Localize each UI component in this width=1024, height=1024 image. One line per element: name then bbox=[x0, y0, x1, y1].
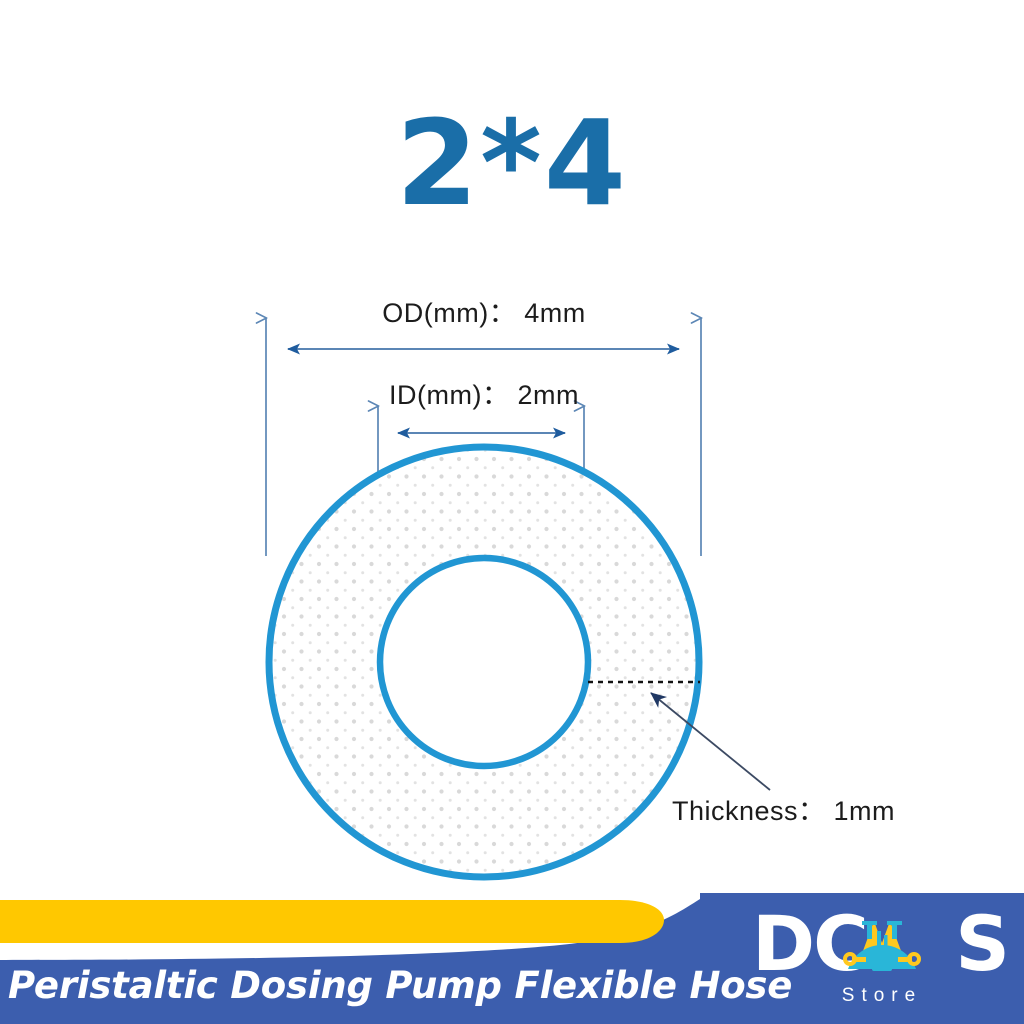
thickness-label: Thickness： 1mm bbox=[672, 796, 895, 826]
store-logo[interactable]: DC S Store bbox=[748, 901, 1016, 1019]
logo-text-s: S bbox=[955, 906, 1010, 982]
id-label: ID(mm)： 2mm bbox=[389, 380, 579, 410]
tube-cross-section bbox=[260, 438, 710, 888]
logo-subtitle: Store bbox=[748, 985, 1016, 1007]
bottom-banner: Peristaltic Dosing Pump Flexible Hose DC… bbox=[0, 893, 1024, 1024]
product-image-canvas: 2*4 bbox=[0, 0, 1024, 1024]
banner-caption: Peristaltic Dosing Pump Flexible Hose bbox=[8, 952, 748, 1018]
banner-yellow-stripe bbox=[0, 900, 664, 943]
factory-pump-mark-icon bbox=[834, 907, 930, 985]
od-label: OD(mm)： 4mm bbox=[382, 298, 585, 328]
inner-diameter-circle bbox=[380, 558, 588, 766]
tube-cross-section-diagram: OD(mm)： 4mm ID(mm)： 2mm Thickness： 1mm bbox=[0, 0, 1024, 900]
od-dimension: OD(mm)： 4mm bbox=[288, 298, 679, 349]
id-dimension: ID(mm)： 2mm bbox=[389, 380, 579, 433]
